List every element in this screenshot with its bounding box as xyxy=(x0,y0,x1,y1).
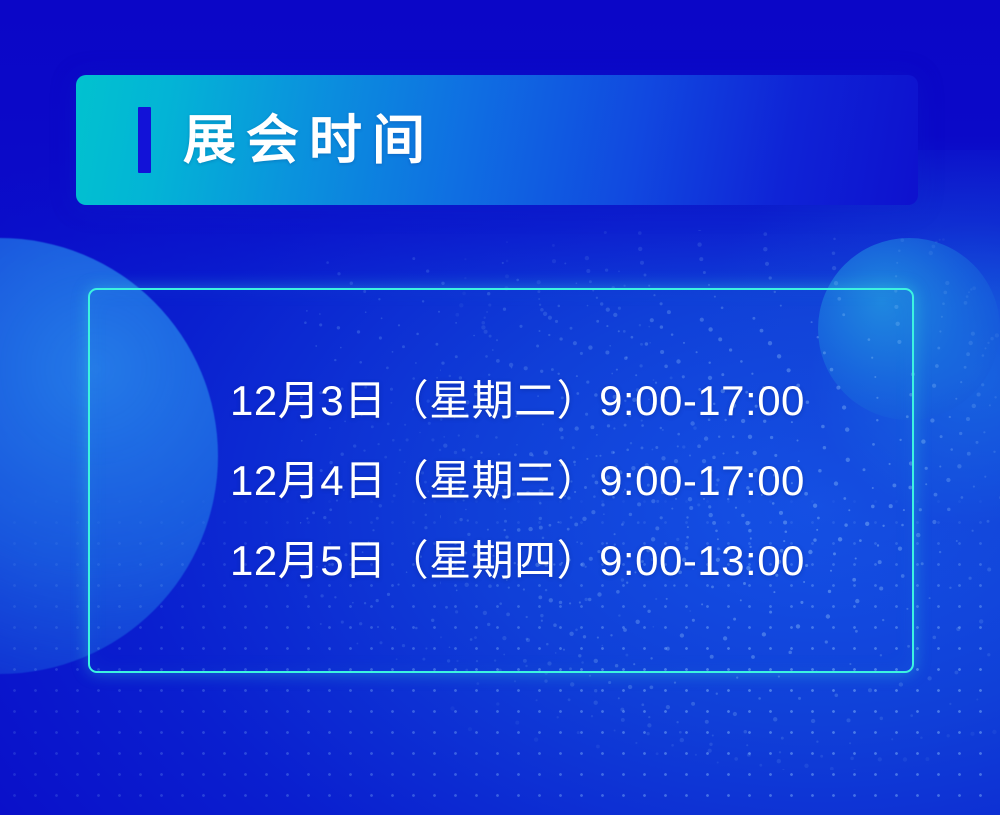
list-item: 12月4日（星期三）9:00-17:00 xyxy=(230,441,912,521)
list-item: 12月5日（星期四）9:00-13:00 xyxy=(230,521,912,601)
list-item: 12月3日（星期二）9:00-17:00 xyxy=(230,361,912,441)
page-title: 展会时间 xyxy=(183,114,435,167)
schedule-list: 12月3日（星期二）9:00-17:00 12月4日（星期三）9:00-17:0… xyxy=(90,361,912,601)
banner-accent-bar xyxy=(138,107,151,173)
section-header-banner: 展会时间 xyxy=(76,75,918,205)
schedule-frame: 12月3日（星期二）9:00-17:00 12月4日（星期三）9:00-17:0… xyxy=(88,288,914,673)
exhibition-time-poster: 展会时间 12月3日（星期二）9:00-17:00 12月4日（星期三）9:00… xyxy=(0,0,1000,815)
